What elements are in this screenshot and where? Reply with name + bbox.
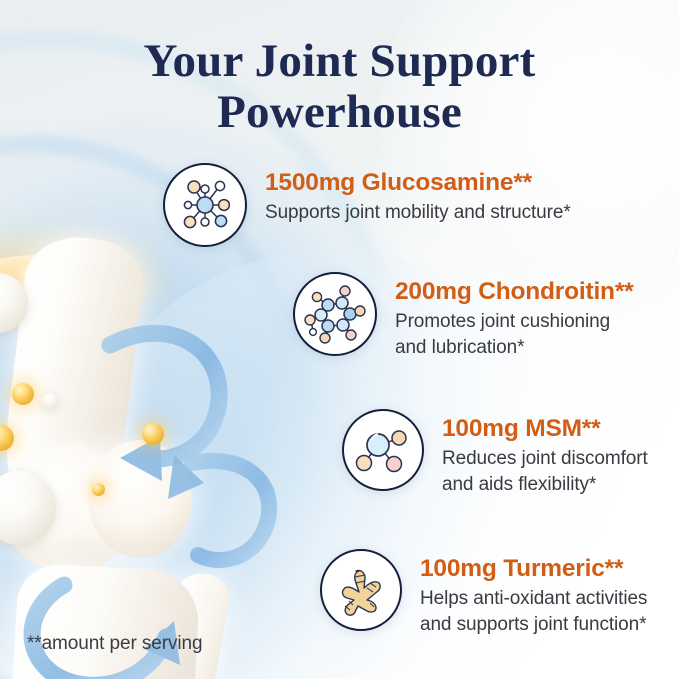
footnote-amount-per-serving: **amount per serving — [27, 633, 202, 655]
page-title-line-1: Your Joint Support — [144, 35, 536, 87]
ingredient-description: Promotes joint cushioning and lubricatio… — [395, 309, 634, 360]
page-title-line-2: Powerhouse — [0, 87, 679, 138]
ingredient-row-chondroitin: 200mg Chondroitin** Promotes joint cushi… — [293, 272, 634, 360]
ingredient-row-turmeric: 100mg Turmeric** Helps anti-oxidant acti… — [320, 549, 647, 637]
ingredient-row-msm: 100mg MSM** Reduces joint discomfort and… — [342, 409, 648, 497]
ingredient-texts: 1500mg Glucosamine** Supports joint mobi… — [247, 163, 571, 226]
turmeric-root-icon — [320, 549, 402, 631]
oil-droplet-1 — [12, 383, 34, 405]
ingredient-description-line: and lubrication* — [395, 335, 634, 360]
ingredient-description-line: Reduces joint discomfort — [442, 446, 648, 471]
ingredient-description-line: and supports joint function* — [420, 612, 647, 637]
oil-droplet-3 — [142, 423, 164, 445]
molecule-radial-icon — [163, 163, 247, 247]
ingredient-description-line: Helps anti-oxidant activities — [420, 586, 647, 611]
arrow-right — [168, 455, 269, 560]
ingredient-name: 1500mg Glucosamine** — [265, 169, 571, 197]
arrow-lower — [32, 585, 180, 679]
ingredient-description: Reduces joint discomfort and aids flexib… — [442, 446, 648, 497]
infographic-canvas: Your Joint Support Powerhouse — [0, 0, 679, 679]
molecule-hexagon-icon — [293, 272, 377, 356]
ingredient-name: 100mg Turmeric** — [420, 555, 647, 583]
ingredient-texts: 100mg Turmeric** Helps anti-oxidant acti… — [402, 549, 647, 637]
ingredient-description: Helps anti-oxidant activities and suppor… — [420, 586, 647, 637]
ingredient-description-line: and aids flexibility* — [442, 472, 648, 497]
knee-joint-illustration — [0, 255, 290, 679]
ingredient-description-line: Promotes joint cushioning — [395, 309, 634, 334]
ingredient-description: Supports joint mobility and structure* — [265, 200, 571, 225]
oil-droplet-4 — [92, 483, 105, 496]
ingredient-row-glucosamine: 1500mg Glucosamine** Supports joint mobi… — [163, 163, 571, 247]
page-title: Your Joint Support Powerhouse — [0, 36, 679, 138]
ingredient-description-line: Supports joint mobility and structure* — [265, 200, 571, 225]
motion-arrows — [0, 255, 290, 679]
ingredient-texts: 100mg MSM** Reduces joint discomfort and… — [424, 409, 648, 497]
ingredient-texts: 200mg Chondroitin** Promotes joint cushi… — [377, 272, 634, 360]
pearl-sphere-4 — [42, 393, 58, 409]
ingredient-name: 100mg MSM** — [442, 415, 648, 443]
molecule-trinode-icon — [342, 409, 424, 491]
ingredient-name: 200mg Chondroitin** — [395, 278, 634, 306]
